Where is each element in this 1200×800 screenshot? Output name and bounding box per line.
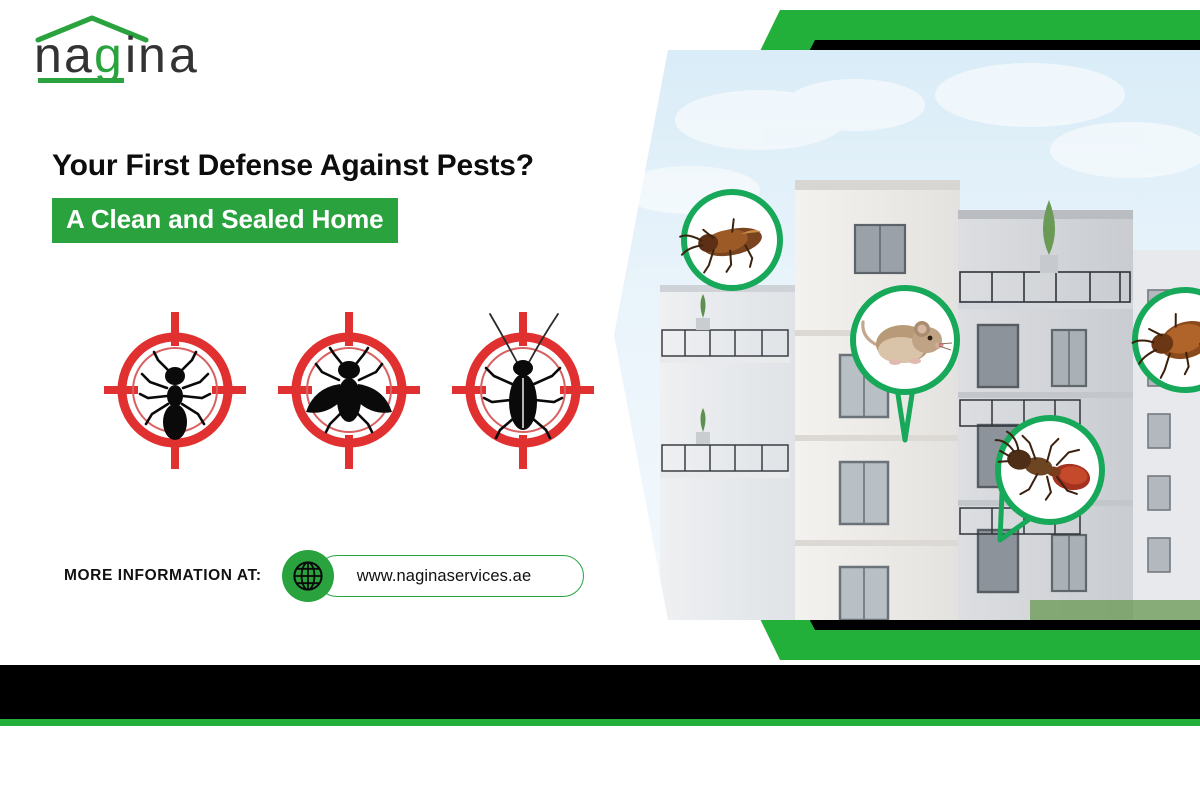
chevron-artwork-panel	[600, 0, 1200, 670]
brand-logo[interactable]: n a g i n a	[18, 14, 218, 92]
pest-icon-row	[100, 305, 620, 475]
headline-highlight-wrap: A Clean and Sealed Home	[52, 198, 612, 243]
chevron-frame	[600, 0, 1200, 670]
svg-text:g: g	[94, 27, 121, 83]
svg-text:n: n	[138, 27, 165, 83]
svg-text:n: n	[34, 27, 61, 83]
website-url-pill[interactable]: www.naginaservices.ae	[316, 555, 584, 597]
headline-secondary: A Clean and Sealed Home	[52, 198, 398, 243]
pest-control-banner: n a g i n a Your First Defense Against P…	[0, 0, 1200, 800]
headline-block: Your First Defense Against Pests? A Clea…	[52, 148, 612, 243]
house-roof-icon: n a g i n a	[18, 14, 218, 92]
more-information-row: MORE INFORMATION AT: www.naginaservices.…	[64, 548, 584, 604]
bottom-green-strip	[0, 719, 1200, 726]
headline-primary: Your First Defense Against Pests?	[52, 148, 612, 184]
bottom-white-area	[0, 726, 1200, 800]
svg-text:a: a	[64, 27, 92, 83]
cockroach-target-icon	[448, 308, 598, 473]
svg-text:a: a	[169, 27, 197, 83]
svg-text:i: i	[125, 27, 135, 83]
website-url-text: www.naginaservices.ae	[357, 567, 532, 586]
more-information-label: MORE INFORMATION AT:	[64, 567, 262, 585]
bottom-black-bar	[0, 665, 1200, 719]
globe-icon	[282, 550, 334, 602]
fly-target-icon	[274, 308, 424, 473]
ant-target-icon	[100, 308, 250, 473]
